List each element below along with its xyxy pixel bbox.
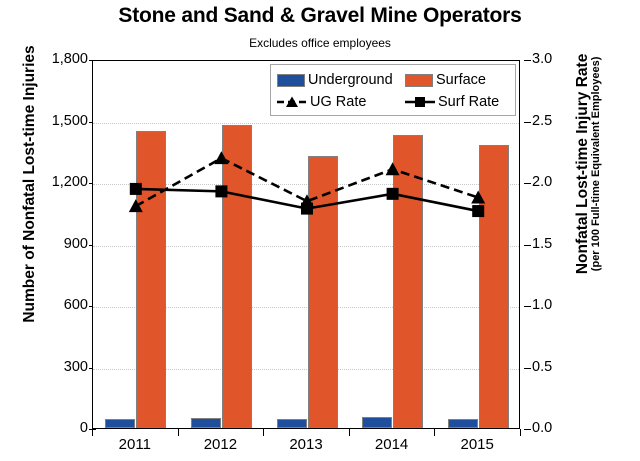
x-axis-tick-mark: [92, 429, 93, 436]
y-axis-right-tick-label: 0.5: [532, 359, 572, 375]
legend-item-surf-rate: Surf Rate: [405, 94, 499, 110]
y-axis-right-tick-mark: [524, 306, 531, 307]
y-axis-right-title-main: Nonfatal Lost-time Injury Rate: [574, 54, 591, 274]
marker-surf-rate-square: [215, 185, 227, 197]
y-axis-right-title: Nonfatal Lost-time Injury Rate (per 100 …: [575, 0, 603, 349]
y-axis-left-tick-label: 600: [30, 297, 88, 313]
y-axis-right-tick-mark: [524, 60, 531, 61]
y-axis-left-tick-label: 1,500: [30, 113, 88, 129]
chart-legend: Underground Surface UG Rate: [270, 64, 516, 116]
x-axis-tick-mark: [349, 429, 350, 436]
legend-label-surf-rate: Surf Rate: [438, 94, 499, 110]
y-axis-left-tick-label: 300: [30, 359, 88, 375]
legend-item-surface: Surface: [405, 72, 486, 88]
line-square-solid-icon: [405, 95, 435, 109]
y-axis-right-tick-label: 2.5: [532, 113, 572, 129]
marker-surf-rate-square: [387, 188, 399, 200]
x-axis-tick-label: 2013: [261, 436, 351, 453]
x-axis-tick-mark: [434, 429, 435, 436]
y-axis-right-tick-label: 1.0: [532, 297, 572, 313]
line-series-overlay: [93, 61, 521, 430]
marker-surf-rate-square: [301, 203, 313, 215]
y-axis-right-tick-mark: [524, 245, 531, 246]
marker-ug-rate-triangle: [129, 199, 143, 212]
y-axis-right-title-sub: (per 100 Full-time Equivalent Employees): [591, 0, 603, 349]
y-axis-right-tick-label: 3.0: [532, 51, 572, 67]
y-axis-left-tick-label: 1,800: [30, 51, 88, 67]
y-axis-right-tick-mark: [524, 368, 531, 369]
y-axis-right-tick-label: 0.0: [532, 420, 572, 436]
y-axis-right-tick-mark: [524, 429, 531, 430]
legend-item-ug-rate: UG Rate: [277, 94, 405, 110]
legend-label-underground: Underground: [308, 72, 393, 88]
y-axis-right-ticks: 0.00.51.01.52.02.53.0: [532, 60, 576, 429]
marker-ug-rate-triangle: [214, 151, 228, 164]
x-axis-tick-mark: [520, 429, 521, 436]
chart-title: Stone and Sand & Gravel Mine Operators: [0, 4, 640, 28]
legend-row-1: Underground Surface: [277, 69, 509, 91]
legend-label-ug-rate: UG Rate: [310, 94, 366, 110]
y-axis-right-tick-mark: [524, 183, 531, 184]
y-axis-left-tick-label: 900: [30, 236, 88, 252]
marker-surf-rate-square: [130, 183, 142, 195]
marker-ug-rate-triangle: [386, 162, 400, 175]
y-axis-left-tick-label: 1,200: [30, 174, 88, 190]
y-axis-right-tick-label: 2.0: [532, 174, 572, 190]
marker-surf-rate-square: [472, 205, 484, 217]
y-axis-left-tick-label: 0: [30, 420, 88, 436]
x-axis-tick-label: 2012: [175, 436, 265, 453]
x-axis-tick-label: 2015: [432, 436, 522, 453]
swatch-blue-icon: [277, 74, 305, 87]
chart-container: Stone and Sand & Gravel Mine Operators E…: [0, 0, 640, 461]
x-axis-tick-label: 2014: [347, 436, 437, 453]
swatch-orange-icon: [405, 74, 433, 87]
legend-row-2: UG Rate Surf Rate: [277, 91, 509, 113]
chart-subtitle: Excludes office employees: [0, 36, 640, 50]
line-triangle-dashed-icon: [277, 95, 307, 109]
x-axis-tick-mark: [178, 429, 179, 436]
legend-item-underground: Underground: [277, 72, 405, 88]
x-axis-tick-mark: [263, 429, 264, 436]
legend-label-surface: Surface: [436, 72, 486, 88]
x-axis-tick-label: 2011: [90, 436, 180, 453]
y-axis-left-ticks: 03006009001,2001,5001,800: [24, 60, 88, 429]
y-axis-right-tick-mark: [524, 122, 531, 123]
y-axis-right-tick-label: 1.5: [532, 236, 572, 252]
